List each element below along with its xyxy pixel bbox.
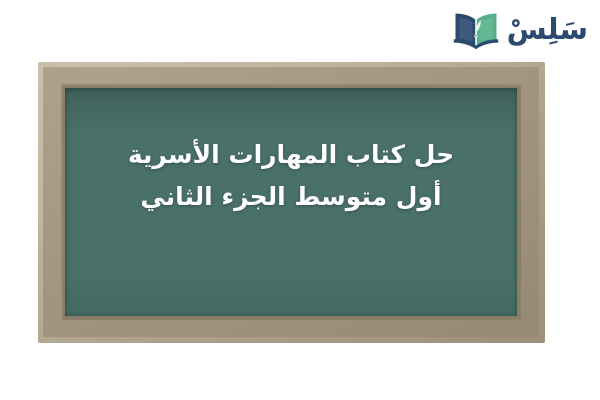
open-book-icon (453, 9, 499, 51)
page-canvas: سَلِسْ حل كتاب المهارات الأسرية أول متوس… (0, 0, 600, 400)
blackboard-title-line-2: أول متوسط الجزء الثاني (128, 177, 454, 218)
blackboard: حل كتاب المهارات الأسرية أول متوسط الجزء… (38, 62, 545, 343)
brand-logo[interactable]: سَلِسْ (453, 7, 588, 53)
brand-wordmark: سَلِسْ (507, 15, 588, 44)
blackboard-text: حل كتاب المهارات الأسرية أول متوسط الجزء… (128, 135, 454, 270)
blackboard-surface: حل كتاب المهارات الأسرية أول متوسط الجزء… (65, 88, 517, 316)
blackboard-title-line-1: حل كتاب المهارات الأسرية (128, 135, 454, 176)
